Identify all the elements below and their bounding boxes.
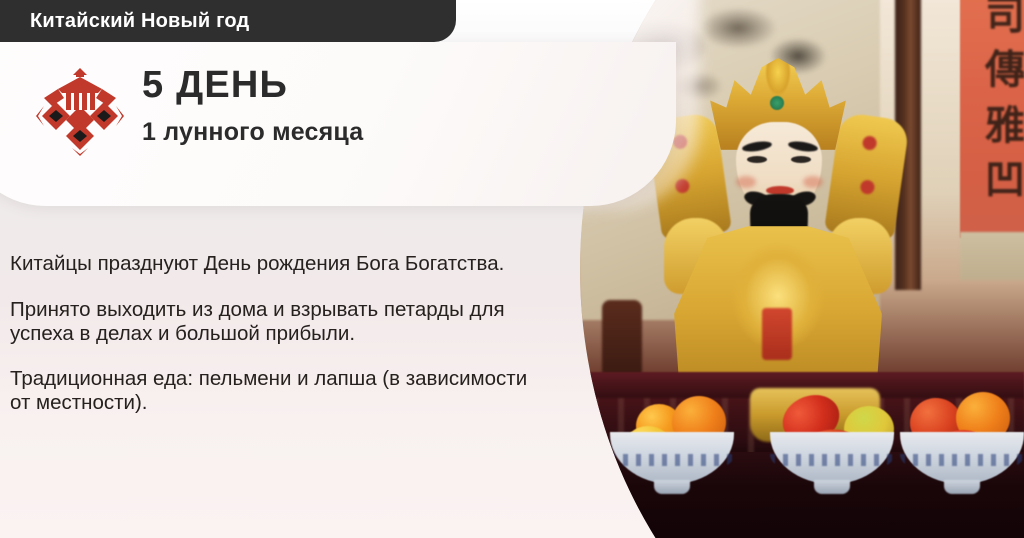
- poster-canvas: 司 傳 雅 凹: [0, 0, 1024, 538]
- bowl-blue-pattern: [610, 454, 734, 466]
- red-seal-panel: [762, 308, 792, 360]
- bowl-foot: [654, 480, 690, 494]
- paragraph: Китайцы празднуют День рождения Бога Бог…: [10, 252, 540, 276]
- paragraph: Принято выходить из дома и взрывать пета…: [10, 298, 540, 346]
- scroll-glyph-4: 凹: [960, 160, 1024, 200]
- bowl-blue-pattern: [770, 454, 894, 466]
- scroll-glyph-2: 傳: [960, 50, 1024, 90]
- day-number-title: 5 ДЕНЬ: [142, 66, 542, 106]
- scroll-glyph-1: 司: [960, 0, 1024, 36]
- page-title: Китайский Новый год: [30, 10, 249, 33]
- eye-left: [747, 156, 767, 163]
- bowl-foot: [814, 480, 850, 494]
- scroll-glyph-3: 雅: [960, 106, 1024, 146]
- bowl-blue-pattern: [900, 454, 1024, 466]
- eye-right: [791, 156, 811, 163]
- lunar-month-subtitle: 1 лунного месяца: [142, 118, 542, 147]
- day-heading-block: 5 ДЕНЬ 1 лунного месяца: [142, 66, 542, 147]
- wing-dot: [862, 135, 878, 151]
- cheek-blush-left: [736, 176, 756, 188]
- scroll-lower-mount: [960, 232, 1024, 280]
- paragraph: Традиционная еда: пельмени и лапша (в за…: [10, 367, 540, 415]
- wing-dot: [860, 179, 876, 195]
- red-calligraphy-scroll: 司 傳 雅 凹: [960, 0, 1024, 238]
- chinese-pagoda-ornament-icon: [30, 62, 130, 162]
- header-bar: Китайский Новый год: [0, 0, 456, 42]
- crown-jade-gem: [770, 96, 784, 110]
- description-text: Китайцы празднуют День рождения Бога Бог…: [10, 252, 540, 415]
- cheek-blush-right: [803, 176, 823, 188]
- bowl-foot: [944, 480, 980, 494]
